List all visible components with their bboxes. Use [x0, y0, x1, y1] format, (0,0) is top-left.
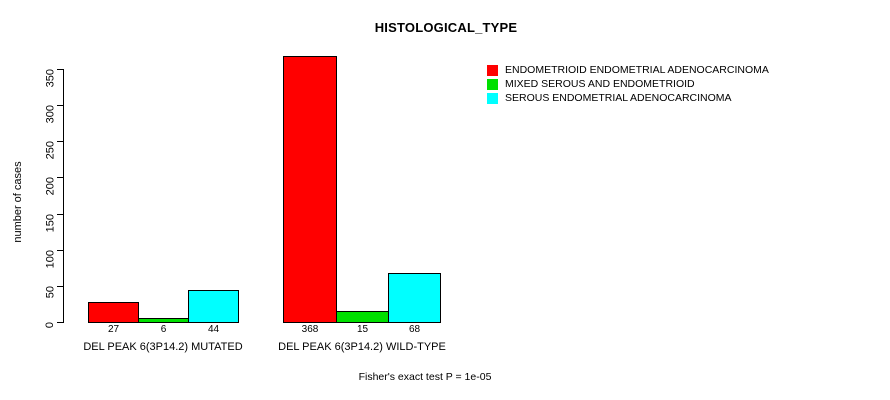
y-tick-100	[57, 250, 63, 251]
y-tick-300	[57, 105, 63, 106]
bar-value-group2-endometrioid: 368	[283, 324, 337, 335]
bar-value-group1-endometrioid: 27	[88, 324, 139, 335]
bar-value-group1-serous: 44	[188, 324, 239, 335]
bar-group2-serous[interactable]	[388, 273, 441, 323]
bar-value-group1-mixed: 6	[138, 324, 189, 335]
legend-item-serous: SEROUS ENDOMETRIAL ADENOCARCINOMA	[487, 92, 769, 105]
y-tick-350	[57, 69, 63, 70]
legend-label-serous: SEROUS ENDOMETRIAL ADENOCARCINOMA	[505, 93, 732, 104]
plot-area: 0 50 100 150 200 250 300 350 number of c…	[0, 0, 470, 400]
y-axis-line	[63, 69, 64, 323]
bar-value-group2-serous: 68	[388, 324, 441, 335]
legend-item-mixed: MIXED SEROUS AND ENDOMETRIOID	[487, 78, 769, 91]
bar-value-group2-mixed: 15	[336, 324, 389, 335]
y-tick-150	[57, 214, 63, 215]
statistical-test-note: Fisher's exact test P = 1e-05	[0, 371, 890, 383]
y-tick-250	[57, 141, 63, 142]
legend-label-endometrioid: ENDOMETRIOID ENDOMETRIAL ADENOCARCINOMA	[505, 65, 769, 76]
group-label-wildtype: DEL PEAK 6(3P14.2) WILD-TYPE	[212, 341, 512, 353]
chart-canvas: HISTOLOGICAL_TYPE 0 50 100 150 200 250 3…	[0, 0, 890, 400]
y-tick-200	[57, 177, 63, 178]
statistical-test-text: Fisher's exact test P = 1e-05	[359, 371, 492, 383]
y-axis-title: number of cases	[12, 122, 24, 282]
legend-swatch-icon-endometrioid	[487, 65, 498, 76]
bar-group2-mixed[interactable]	[336, 311, 389, 323]
legend-swatch-icon-mixed	[487, 79, 498, 90]
bar-group1-mixed[interactable]	[138, 318, 189, 323]
bar-group1-endometrioid[interactable]	[88, 302, 139, 323]
bar-group1-serous[interactable]	[188, 290, 239, 323]
legend-swatch-icon-serous	[487, 93, 498, 104]
y-tick-0	[57, 322, 63, 323]
legend: ENDOMETRIOID ENDOMETRIAL ADENOCARCINOMA …	[487, 64, 769, 106]
y-tick-50	[57, 286, 63, 287]
legend-label-mixed: MIXED SEROUS AND ENDOMETRIOID	[505, 79, 695, 90]
bar-group2-endometrioid[interactable]	[283, 56, 337, 323]
legend-item-endometrioid: ENDOMETRIOID ENDOMETRIAL ADENOCARCINOMA	[487, 64, 769, 77]
